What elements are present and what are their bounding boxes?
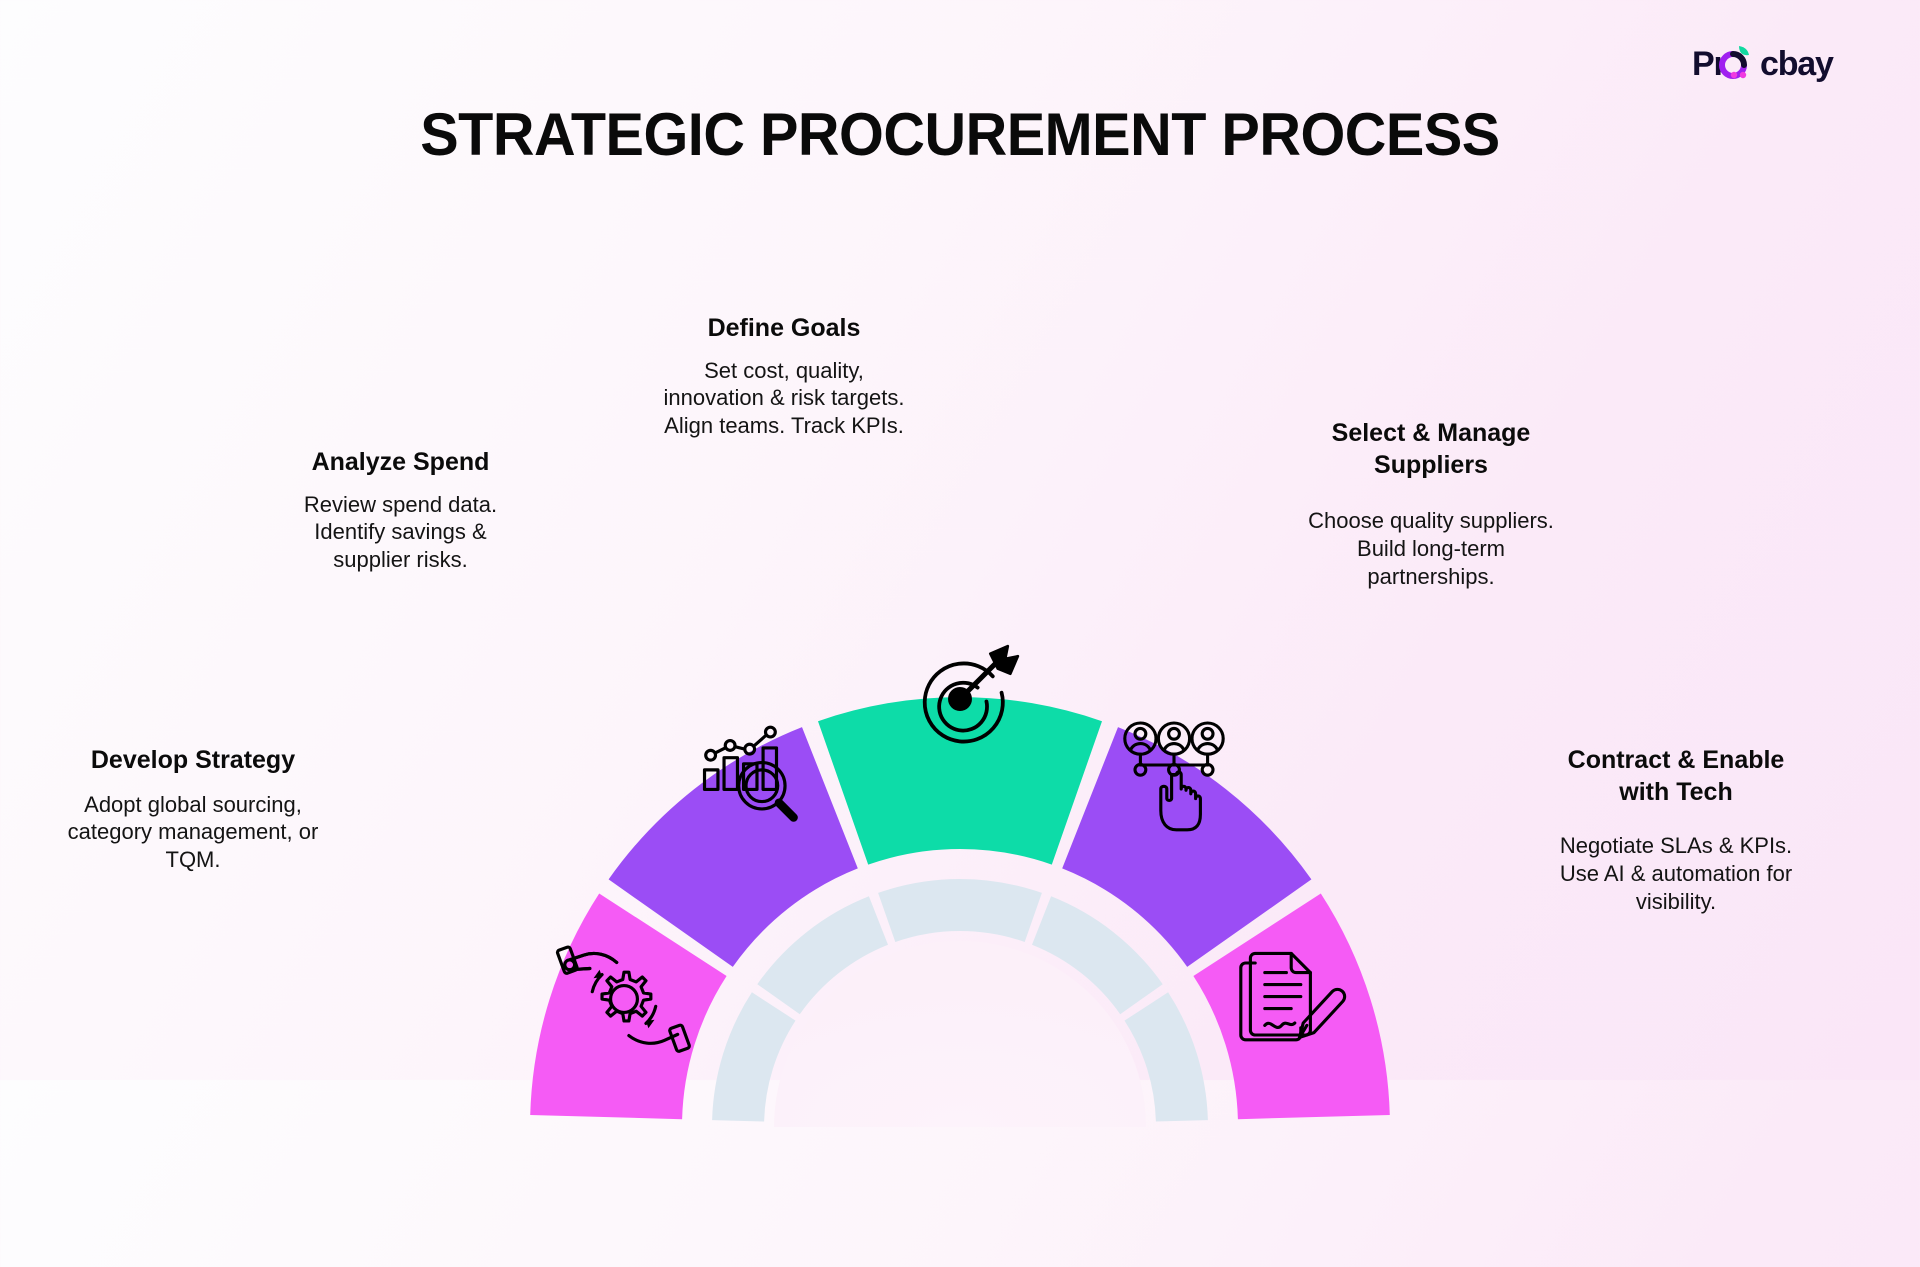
procbay-wordmark-icon: Pr cbay [1692, 42, 1862, 88]
callout-analyze-spend: Analyze Spend Review spend data. Identif… [272, 447, 529, 574]
callout-title: Contract & Enable with Tech [1531, 745, 1821, 808]
cart-o-icon [1722, 46, 1749, 78]
callout-description: Negotiate SLAs & KPIs. Use AI & automati… [1531, 832, 1821, 916]
procbay-logo: Pr cbay [1692, 42, 1862, 88]
process-wheel-chart [400, 567, 1520, 1267]
callout-define-goals: Define Goals Set cost, quality, innovati… [648, 313, 920, 440]
callout-title: Develop Strategy [48, 745, 338, 777]
callout-description: Adopt global sourcing, category manageme… [48, 791, 338, 875]
segment-define-goals[interactable] [818, 697, 1102, 865]
svg-text:cbay: cbay [1760, 45, 1834, 83]
callout-description: Set cost, quality, innovation & risk tar… [648, 357, 920, 441]
callout-title: Select & Manage Suppliers [1299, 418, 1563, 481]
callout-title: Analyze Spend [272, 447, 529, 479]
callout-develop-strategy: Develop Strategy Adopt global sourcing, … [48, 745, 338, 874]
callout-title: Define Goals [648, 313, 920, 345]
page-title: STRATEGIC PROCUREMENT PROCESS [38, 100, 1881, 169]
inner-ring-segment-3 [878, 879, 1042, 942]
callout-description: Review spend data. Identify savings & su… [272, 491, 529, 575]
callout-description: Choose quality suppliers. Build long-ter… [1299, 507, 1563, 591]
callout-contract-enable-tech: Contract & Enable with Tech Negotiate SL… [1531, 745, 1821, 916]
callout-select-manage-suppliers: Select & Manage Suppliers Choose quality… [1299, 418, 1563, 591]
